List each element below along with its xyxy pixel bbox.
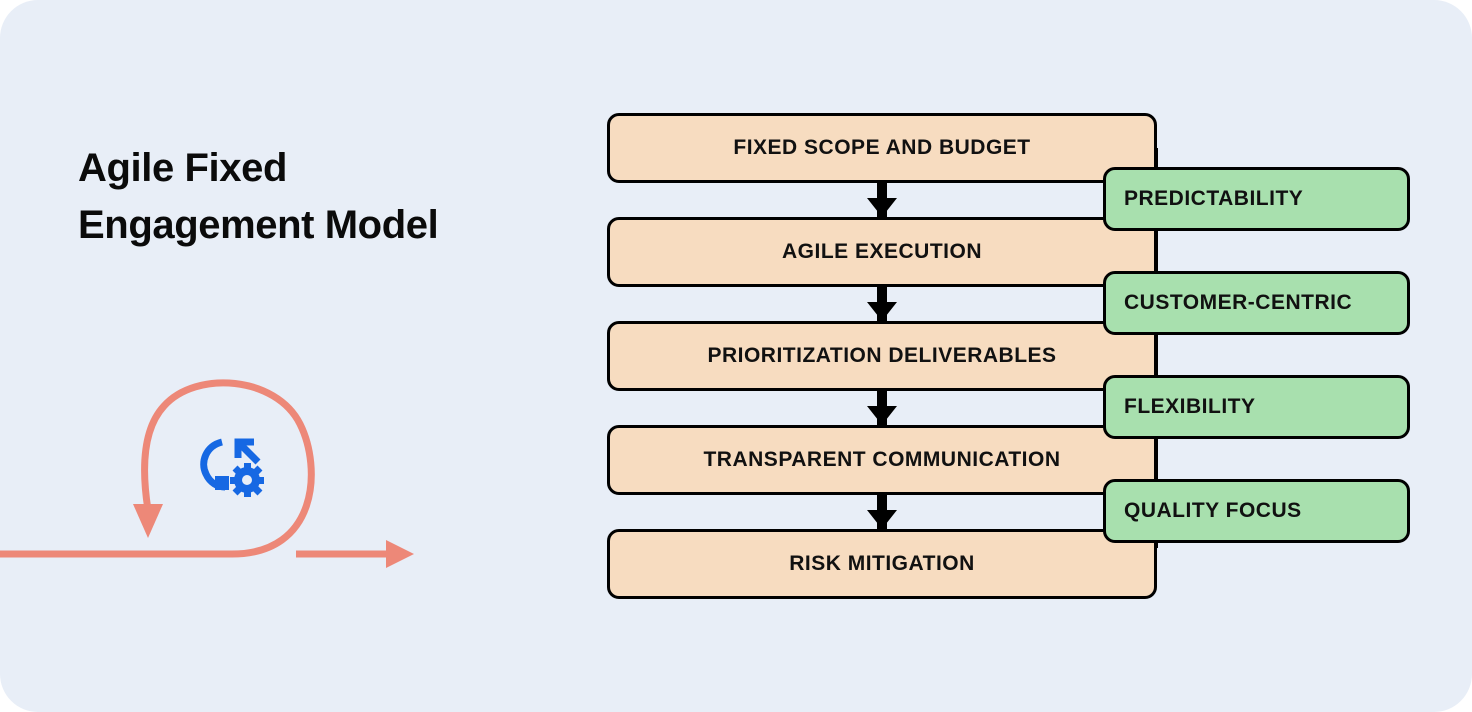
benefit-badge-label: PREDICTABILITY (1106, 187, 1303, 211)
flow-arrow-4-head (867, 510, 897, 529)
benefit-badge-1[interactable]: PREDICTABILITY (1103, 167, 1410, 231)
flow-step-5[interactable]: RISK MITIGATION (607, 529, 1157, 599)
flow-arrow-1-head (867, 198, 897, 217)
flow-step-label: AGILE EXECUTION (782, 240, 982, 264)
benefit-badge-4[interactable]: QUALITY FOCUS (1103, 479, 1410, 543)
page-title: Agile Fixed Engagement Model (78, 140, 548, 254)
flow-step-3[interactable]: PRIORITIZATION DELIVERABLES (607, 321, 1157, 391)
benefit-badge-3[interactable]: FLEXIBILITY (1103, 375, 1410, 439)
refresh-gear-icon (196, 436, 268, 498)
flow-step-label: RISK MITIGATION (789, 552, 975, 576)
page-title-line-2: Engagement Model (78, 197, 548, 254)
flow-step-label: TRANSPARENT COMMUNICATION (703, 448, 1060, 472)
benefit-badge-label: FLEXIBILITY (1106, 395, 1256, 419)
flow-step-label: FIXED SCOPE AND BUDGET (733, 136, 1030, 160)
flow-arrow-2-head (867, 302, 897, 321)
flow-step-2[interactable]: AGILE EXECUTION (607, 217, 1157, 287)
flow-arrow-3-head (867, 406, 897, 425)
benefit-badge-label: QUALITY FOCUS (1106, 499, 1302, 523)
flow-step-4[interactable]: TRANSPARENT COMMUNICATION (607, 425, 1157, 495)
infographic-canvas: Agile Fixed Engagement Model (0, 0, 1472, 712)
benefit-badge-2[interactable]: CUSTOMER-CENTRIC (1103, 271, 1410, 335)
flow-step-label: PRIORITIZATION DELIVERABLES (707, 344, 1056, 368)
benefit-badge-label: CUSTOMER-CENTRIC (1106, 291, 1352, 315)
flow-step-1[interactable]: FIXED SCOPE AND BUDGET (607, 113, 1157, 183)
page-title-line-1: Agile Fixed (78, 140, 548, 197)
